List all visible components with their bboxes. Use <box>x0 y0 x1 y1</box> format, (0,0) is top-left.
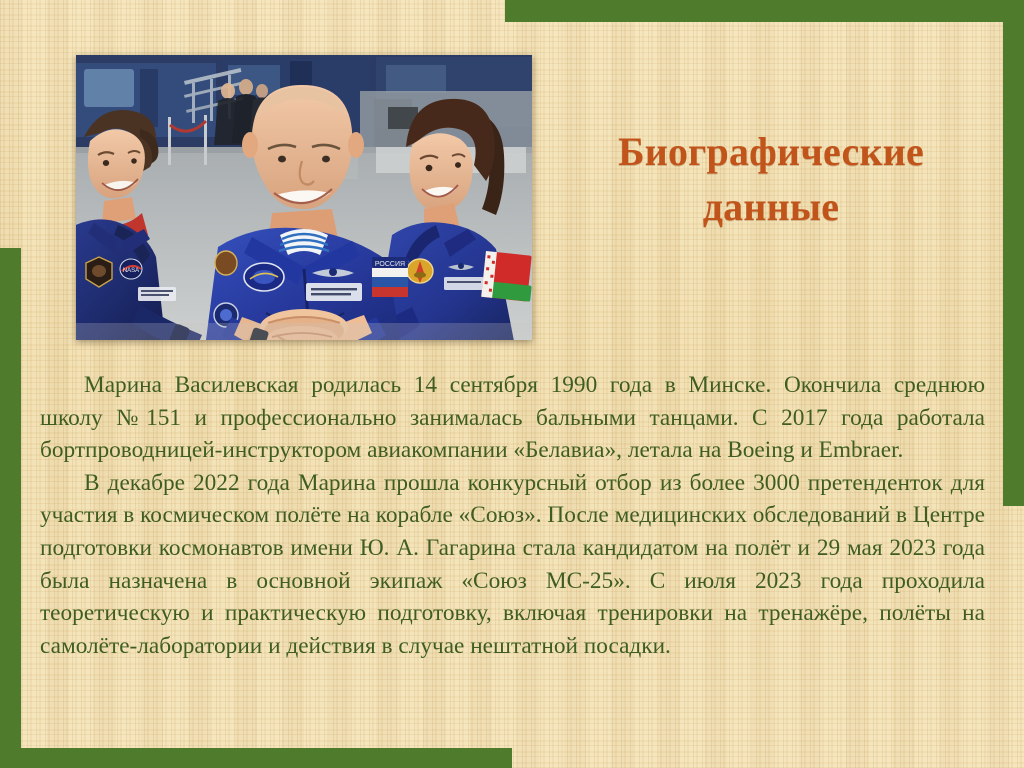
presentation-slide: NASA <box>0 0 1024 768</box>
page-title-line-1: Биографические <box>556 124 986 179</box>
cosmonauts-photo-illustration: NASA <box>76 55 532 340</box>
decorative-bar-right <box>1003 0 1024 506</box>
cosmonauts-photo: NASA <box>76 55 532 340</box>
decorative-bar-top <box>505 0 1024 22</box>
biography-body: Марина Василевская родилась 14 сентября … <box>40 369 985 662</box>
page-title-line-2: данные <box>556 179 986 234</box>
biography-paragraph-1: Марина Василевская родилась 14 сентября … <box>40 369 985 467</box>
svg-text:NASA: NASA <box>123 268 139 274</box>
page-title: Биографические данные <box>556 124 986 234</box>
svg-text:РОССИЯ: РОССИЯ <box>375 261 405 268</box>
decorative-bar-left <box>0 248 21 768</box>
decorative-bar-bottom <box>0 748 512 768</box>
biography-paragraph-2: В декабре 2022 года Марина прошла конкур… <box>40 467 985 663</box>
